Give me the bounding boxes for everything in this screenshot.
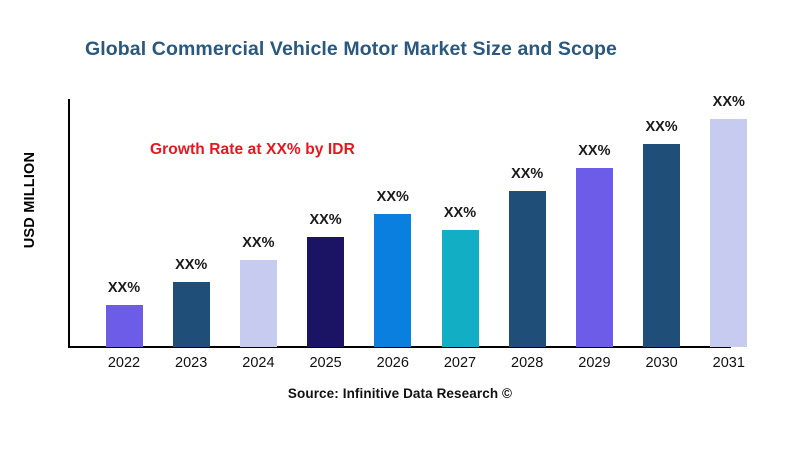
bar-2029 <box>576 168 613 347</box>
bar-value-label-2022: XX% <box>84 280 164 296</box>
bar-2027 <box>442 230 479 347</box>
bar-value-label-2024: XX% <box>218 235 298 251</box>
x-tick-label-2031: 2031 <box>689 355 769 371</box>
bar-2030 <box>643 144 680 347</box>
bar-value-label-2027: XX% <box>420 205 500 221</box>
bar-2024 <box>240 260 277 347</box>
chart-container: Global Commercial Vehicle Motor Market S… <box>0 0 800 450</box>
bar-value-label-2029: XX% <box>554 143 634 159</box>
bar-value-label-2026: XX% <box>353 189 433 205</box>
source-note: Source: Infinitive Data Research © <box>0 386 800 401</box>
bar-value-label-2030: XX% <box>622 119 702 135</box>
bar-2025 <box>307 237 344 347</box>
bar-2028 <box>509 191 546 347</box>
bar-value-label-2031: XX% <box>689 94 769 110</box>
bar-value-label-2025: XX% <box>286 212 366 228</box>
bar-2026 <box>374 214 411 347</box>
plot-area: XX%2022XX%2023XX%2024XX%2025XX%2026XX%20… <box>0 0 800 450</box>
bar-2023 <box>173 282 210 347</box>
bar-2022 <box>106 305 143 347</box>
bar-2031 <box>710 119 747 347</box>
bar-value-label-2023: XX% <box>151 257 231 273</box>
bar-value-label-2028: XX% <box>487 166 567 182</box>
